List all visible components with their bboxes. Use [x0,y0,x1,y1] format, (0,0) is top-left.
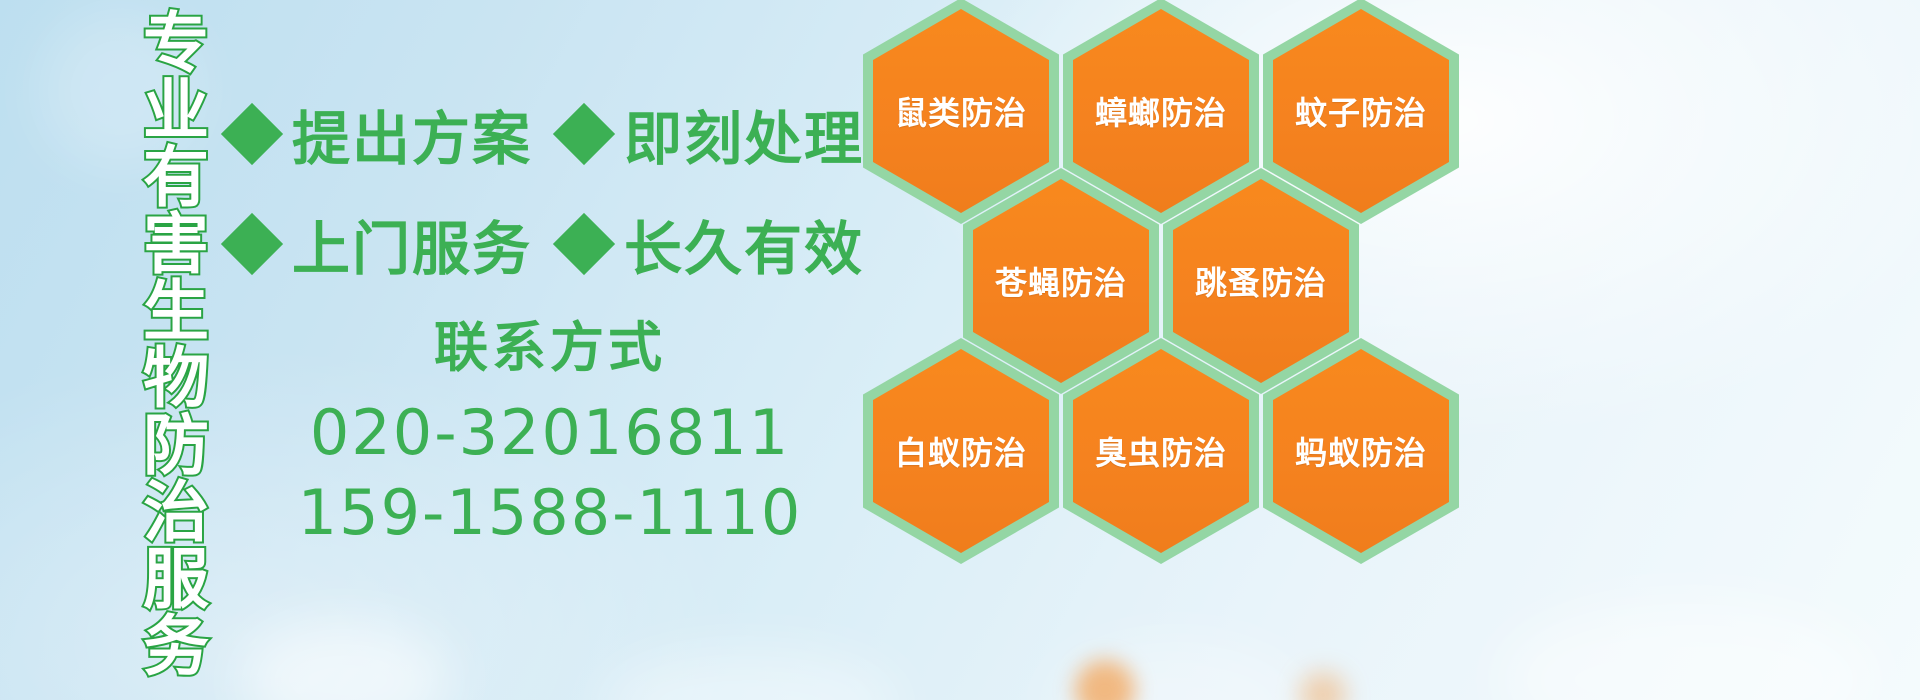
background-bokeh-decoration [1300,672,1346,700]
vertical-headline: 专业有害生物防治服务 [104,8,204,668]
hex-cell-bedbug[interactable]: 臭虫防治 [1063,338,1259,564]
diamond-bullet-icon [553,103,615,165]
phone-number-mobile[interactable]: 159-1588-1110 [240,473,860,552]
feature-row-2: 上门服务 长久有效 [230,202,864,286]
contact-heading: 联系方式 [240,318,860,377]
pest-control-banner: 专业有害生物防治服务 提出方案 即刻处理 上门服务 长久有效 联系方式 020-… [0,0,1920,700]
feature-item: 长久有效 [562,202,864,286]
background-bokeh-decoration [1075,660,1135,700]
diamond-bullet-icon [221,103,283,165]
hex-label: 臭虫防治 [1063,338,1259,564]
feature-label: 提出方案 [292,92,532,176]
feature-label: 上门服务 [292,202,532,286]
feature-label: 即刻处理 [624,92,864,176]
feature-label: 长久有效 [624,202,864,286]
hex-cell-termite[interactable]: 白蚁防治 [863,338,1059,564]
background-bokeh-decoration [1050,640,1310,700]
feature-item: 上门服务 [230,202,532,286]
background-bokeh-decoration [1500,600,1880,700]
phone-number-landline[interactable]: 020-32016811 [240,393,860,472]
diamond-bullet-icon [553,213,615,275]
hex-label: 蚂蚁防治 [1263,338,1459,564]
hex-cell-ant[interactable]: 蚂蚁防治 [1263,338,1459,564]
hex-label: 白蚁防治 [863,338,1059,564]
feature-row-1: 提出方案 即刻处理 [230,92,864,176]
feature-item: 提出方案 [230,92,532,176]
service-hexagon-grid: 鼠类防治 蟑螂防治 蚊子防治 苍蝇防治 跳蚤防治 白蚁防治 [855,0,1475,560]
feature-item: 即刻处理 [562,92,864,176]
background-bokeh-decoration [240,620,450,700]
diamond-bullet-icon [221,213,283,275]
background-bokeh-decoration [600,650,900,700]
contact-block: 联系方式 020-32016811 159-1588-1110 [240,318,860,552]
